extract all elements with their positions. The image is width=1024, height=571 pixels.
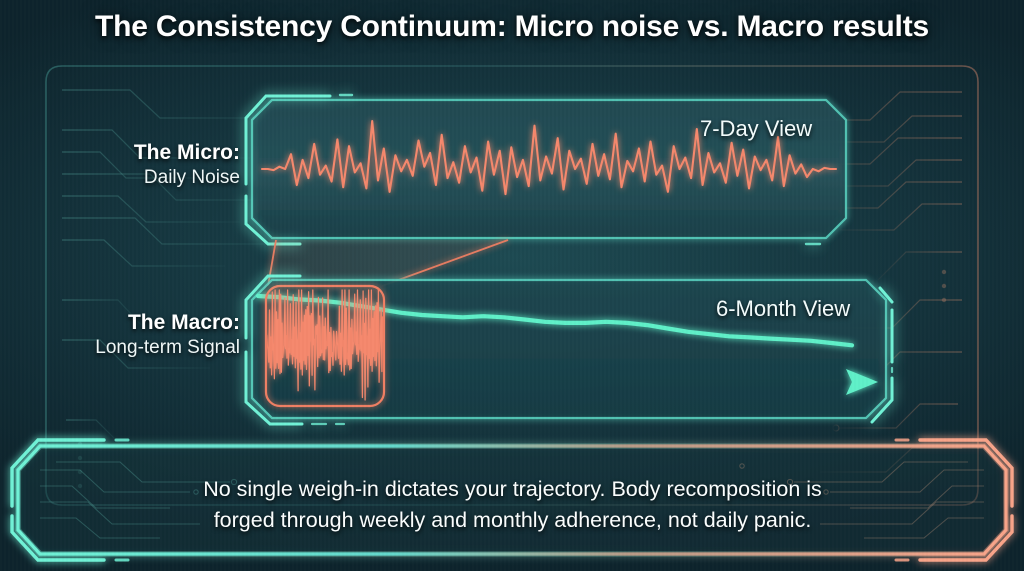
caption-line-2: forged through weekly and monthly adhere… bbox=[60, 505, 965, 536]
micro-label: The Micro: Daily Noise bbox=[50, 140, 240, 191]
caption-text: No single weigh-in dictates your traject… bbox=[60, 474, 965, 535]
caption-line-1: No single weigh-in dictates your traject… bbox=[60, 474, 965, 505]
micro-label-primary: The Micro: bbox=[50, 140, 240, 166]
macro-label-primary: The Macro: bbox=[30, 310, 240, 336]
infographic-canvas: The Consistency Continuum: Micro noise v… bbox=[0, 0, 1024, 571]
macro-view-tag: 6-Month View bbox=[716, 296, 850, 322]
page-title: The Consistency Continuum: Micro noise v… bbox=[0, 10, 1024, 44]
micro-label-secondary: Daily Noise bbox=[50, 166, 240, 191]
macro-label-secondary: Long-term Signal bbox=[30, 336, 240, 361]
micro-view-tag: 7-Day View bbox=[700, 116, 812, 142]
macro-label: The Macro: Long-term Signal bbox=[30, 310, 240, 361]
